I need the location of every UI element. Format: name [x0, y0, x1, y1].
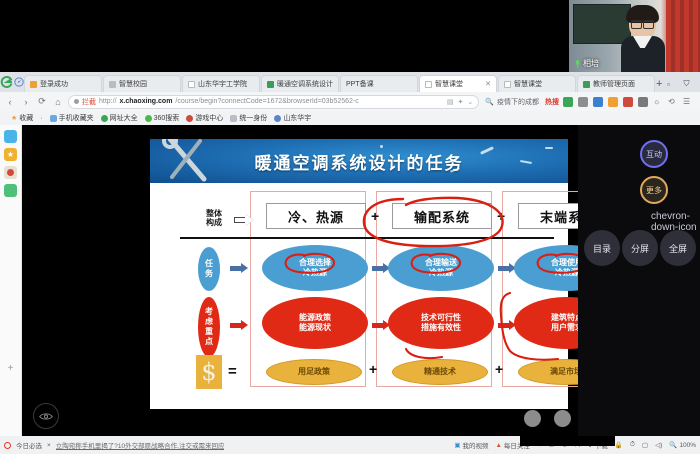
eye-glyph: [39, 412, 53, 421]
bookmark-separator: ·: [40, 115, 42, 122]
operator-plus: +: [497, 208, 505, 224]
course-player-page: ★ +: [0, 125, 700, 436]
tab-label: 智慧课堂: [514, 79, 570, 89]
my-video-label: 我的视频: [462, 440, 488, 450]
blue-node-0: 合理选择冷热源: [262, 245, 368, 291]
status-left-group: 今日必选 × 立陶宛称手机里揭了?10外交部愿战略合作,注交或需来回应: [4, 440, 224, 450]
app-blue-icon[interactable]: [4, 130, 17, 143]
bookmark-item-4[interactable]: 360搜索: [145, 113, 180, 123]
bookmark-item-5[interactable]: 游戏中心: [186, 113, 223, 123]
tab-favicon-orange-icon: [30, 81, 37, 88]
bookmark-label: 游戏中心: [195, 113, 223, 123]
presentation-slide[interactable]: 暖通空调系统设计的任务 整体构成 冷、热源: [150, 139, 568, 409]
status-close-icon[interactable]: ×: [47, 442, 51, 449]
back-button[interactable]: ‹: [4, 96, 16, 108]
video-curtain: [666, 0, 700, 72]
lock-icon[interactable]: 🔒: [615, 441, 623, 449]
left-app-rail: ★ +: [0, 125, 22, 436]
today-pick-icon: [4, 442, 11, 449]
blue-node-1: 合理输送冷热源: [388, 245, 494, 291]
shield-red-icon[interactable]: [4, 166, 17, 179]
search-icon: [145, 115, 152, 122]
header-box-0: 冷、热源: [266, 203, 366, 229]
operator-plus: +: [369, 361, 377, 377]
blue-node-2: 合理使用冷热源: [514, 245, 578, 291]
url-input[interactable]: 拦截 http:// x.chaoxing.com /course/begin?…: [68, 95, 479, 109]
row-label-structure: 整体构成: [194, 209, 234, 227]
tab-favicon-doc-icon: [425, 81, 432, 88]
mobile-icon[interactable]: [563, 97, 573, 107]
extension-icon[interactable]: ⛉: [680, 77, 692, 91]
home-button[interactable]: ⌂: [52, 96, 64, 108]
forward-button[interactable]: ›: [20, 96, 32, 108]
browser-tab-5[interactable]: 智慧课堂 ✕: [419, 75, 497, 92]
bookmark-label: 360搜索: [154, 113, 180, 123]
search-suggestion[interactable]: 🔍 疫情下的成都: [483, 97, 541, 107]
gold-node-0: 用足政策: [266, 359, 362, 385]
home-icon: [230, 115, 237, 122]
menu-icon[interactable]: ☰: [683, 97, 693, 107]
reader-icon[interactable]: ▤: [447, 98, 454, 106]
my-video-button[interactable]: ▣我的视频: [454, 440, 488, 450]
red-node-0: 能源政策能源现状: [262, 297, 368, 349]
slide-body: 整体构成 冷、热源 + 输配系统 + 末端系统 任务: [150, 183, 568, 409]
note-icon[interactable]: ▢: [642, 441, 648, 449]
split-screen-button[interactable]: 分屏: [622, 230, 658, 266]
translate-icon[interactable]: ✦: [458, 98, 464, 106]
screen-root: 相培 登录成功 智慧校园 山: [0, 0, 700, 454]
header-box-1: 输配系统: [392, 203, 492, 229]
magnifier-icon: 🔍: [669, 441, 677, 449]
search-hint-text: 疫情下的成都: [497, 97, 539, 107]
tab-label: 教师管理页面: [593, 79, 649, 89]
course-right-panel: 互动 更多 chevron-down-icon 目录 分屏 全屏: [578, 125, 700, 436]
browser-address-bar: ‹ › ⟳ ⌂ 拦截 http:// x.chaoxing.com /cours…: [0, 92, 700, 111]
dollar-symbol: $: [196, 355, 222, 389]
game-icon: [186, 115, 193, 122]
status-occlusion: [520, 436, 615, 446]
volume-icon[interactable]: ◁): [655, 441, 662, 449]
browser-status-bar: 今日必选 × 立陶宛称手机里揭了?10外交部愿战略合作,注交或需来回应 ▣我的视…: [0, 436, 700, 454]
equals-operator: =: [228, 363, 237, 380]
slide-header: 暖通空调系统设计的任务: [150, 139, 568, 183]
phone-icon: [50, 115, 57, 122]
bookmark-label: 收藏: [19, 113, 33, 123]
next-slide-button[interactable]: ›: [554, 410, 571, 427]
scissors-icon[interactable]: [578, 97, 588, 107]
prev-slide-button[interactable]: ‹: [524, 410, 541, 427]
browser-window: 登录成功 智慧校园 山东华宇工学院 暖通空调系统设计 PPT备课 智慧课堂 ✕: [0, 72, 700, 436]
news-ticker[interactable]: 立陶宛称手机里揭了?10外交部愿战略合作,注交或需来回应: [56, 440, 225, 450]
browser-tab-1[interactable]: 智慧校园: [103, 75, 181, 92]
chevron-down-icon[interactable]: ⌄: [467, 98, 473, 106]
browser-logo-icon: [0, 72, 14, 92]
arrow-right-icon: [230, 320, 248, 331]
add-app-button[interactable]: +: [0, 363, 21, 374]
participant-name-badge: 相培: [575, 58, 599, 69]
zoom-control[interactable]: 🔍100%: [669, 441, 696, 449]
tab-label: 智慧校园: [119, 79, 175, 89]
participant-video-tile[interactable]: 相培: [569, 0, 700, 72]
operator-plus: +: [371, 208, 379, 224]
browser-tab-0[interactable]: 登录成功: [24, 75, 102, 92]
header-underline: [180, 237, 554, 239]
bookmark-label: 网址大全: [110, 113, 138, 123]
browser-tab-2[interactable]: 山东华宇工学院: [182, 75, 260, 92]
tab-label: 登录成功: [40, 79, 96, 89]
blocked-badge: 拦截: [82, 97, 96, 107]
shield-icon[interactable]: [608, 97, 618, 107]
row-label-focus: 考虑重点: [198, 297, 220, 357]
bookmark-item-0[interactable]: ★收藏: [11, 113, 33, 123]
video-conference-strip: 相培: [0, 0, 700, 72]
bookmark-item-6[interactable]: 统一身份: [230, 113, 267, 123]
hot-search-badge[interactable]: 热搜: [545, 97, 559, 107]
tab-label: 智慧课堂: [435, 79, 482, 89]
restore-icon[interactable]: ▫: [662, 77, 674, 91]
browser-tab-6[interactable]: 智慧课堂: [498, 75, 576, 92]
url-right-icons: ▤ ✦ ⌄: [447, 98, 473, 106]
search-icon: 🔍: [485, 98, 494, 106]
microphone-icon: [575, 60, 580, 68]
screenshot-icon[interactable]: [593, 97, 603, 107]
tab-label: 山东华宇工学院: [198, 79, 254, 89]
red-node-1: 技术可行性措施有效性: [388, 297, 494, 349]
mask-icon[interactable]: [623, 97, 633, 107]
reload-button[interactable]: ⟳: [36, 96, 48, 108]
interact-button[interactable]: 互动: [640, 140, 668, 168]
globe-icon: [274, 115, 281, 122]
tab-label: PPT备课: [346, 79, 412, 89]
window-controls: ▫ ⛉ — ▭ ✕: [662, 77, 700, 92]
bookmark-label: 手机收藏夹: [59, 113, 94, 123]
bookmark-item-7[interactable]: 山东华宇: [274, 113, 311, 123]
apps-icon[interactable]: [638, 97, 648, 107]
bookmarks-bar: ★收藏 · 手机收藏夹 网址大全 360搜索 游戏中心 统一身份 山东华宇: [0, 111, 700, 125]
globe-icon: [101, 115, 108, 122]
tab-nav-icon[interactable]: [14, 72, 24, 92]
browser-tab-bar: 登录成功 智慧校园 山东华宇工学院 暖通空调系统设计 PPT备课 智慧课堂 ✕: [0, 72, 700, 92]
arrow-right-icon: [230, 263, 248, 274]
speed-icon[interactable]: ⏱: [630, 441, 635, 449]
more-button[interactable]: 更多: [640, 176, 668, 204]
bookmark-item-3[interactable]: 网址大全: [101, 113, 138, 123]
operator-plus: +: [495, 361, 503, 377]
catalog-button[interactable]: 目录: [584, 230, 620, 266]
tab-favicon-grey-icon: [109, 81, 116, 88]
slide-title: 暖通空调系统设计的任务: [150, 149, 568, 174]
browser-tab-7[interactable]: 教师管理页面: [577, 75, 655, 92]
browser-tab-3[interactable]: 暖通空调系统设计: [261, 75, 339, 92]
history-icon[interactable]: ⟲: [668, 97, 678, 107]
browser-tab-4[interactable]: PPT备课: [340, 75, 418, 92]
zoom-level: 100%: [679, 442, 696, 449]
tab-favicon-doc-icon: [504, 81, 511, 88]
participant-figure: [621, 8, 665, 72]
today-pick-label[interactable]: 今日必选: [16, 440, 42, 450]
header-box-2: 末端系统: [518, 203, 578, 229]
url-path: /course/begin?connectCode=1672&browserId…: [175, 98, 358, 105]
eye-icon[interactable]: [33, 403, 59, 429]
tab-favicon-globe-icon: [267, 81, 274, 88]
url-scheme: http://: [99, 98, 117, 105]
security-icon: [74, 99, 79, 104]
diagram-grid: 整体构成 冷、热源 + 输配系统 + 末端系统 任务: [158, 189, 560, 405]
participant-name: 相培: [583, 58, 599, 69]
red-node-2: 建筑特点用户需求: [514, 297, 578, 349]
tab-close-icon[interactable]: ✕: [485, 80, 491, 88]
folder-green-icon[interactable]: [4, 184, 17, 197]
tab-favicon-globe-icon: [583, 81, 590, 88]
gold-node-2: 满足市场: [518, 359, 578, 385]
tab-favicon-doc-icon: [188, 81, 195, 88]
fullscreen-button[interactable]: 全屏: [660, 230, 696, 266]
star-icon[interactable]: ★: [4, 148, 17, 161]
gold-node-1: 精通技术: [392, 359, 488, 385]
underline-tech-feasibility: [406, 349, 442, 358]
theme-icon[interactable]: ☼: [653, 97, 663, 107]
browser-tool-icons: ☼ ⟲ ☰: [563, 97, 696, 107]
url-host: x.chaoxing.com: [120, 98, 173, 105]
slide-stage: 暖通空调系统设计的任务 整体构成 冷、热源: [22, 125, 578, 436]
bookmark-label: 山东华宇: [283, 113, 311, 123]
hollow-arrow-icon: [234, 214, 254, 226]
row-label-task: 任务: [198, 247, 220, 291]
bookmark-label: 统一身份: [239, 113, 267, 123]
tab-label: 暖通空调系统设计: [277, 79, 333, 89]
bookmark-item-2[interactable]: 手机收藏夹: [50, 113, 94, 123]
